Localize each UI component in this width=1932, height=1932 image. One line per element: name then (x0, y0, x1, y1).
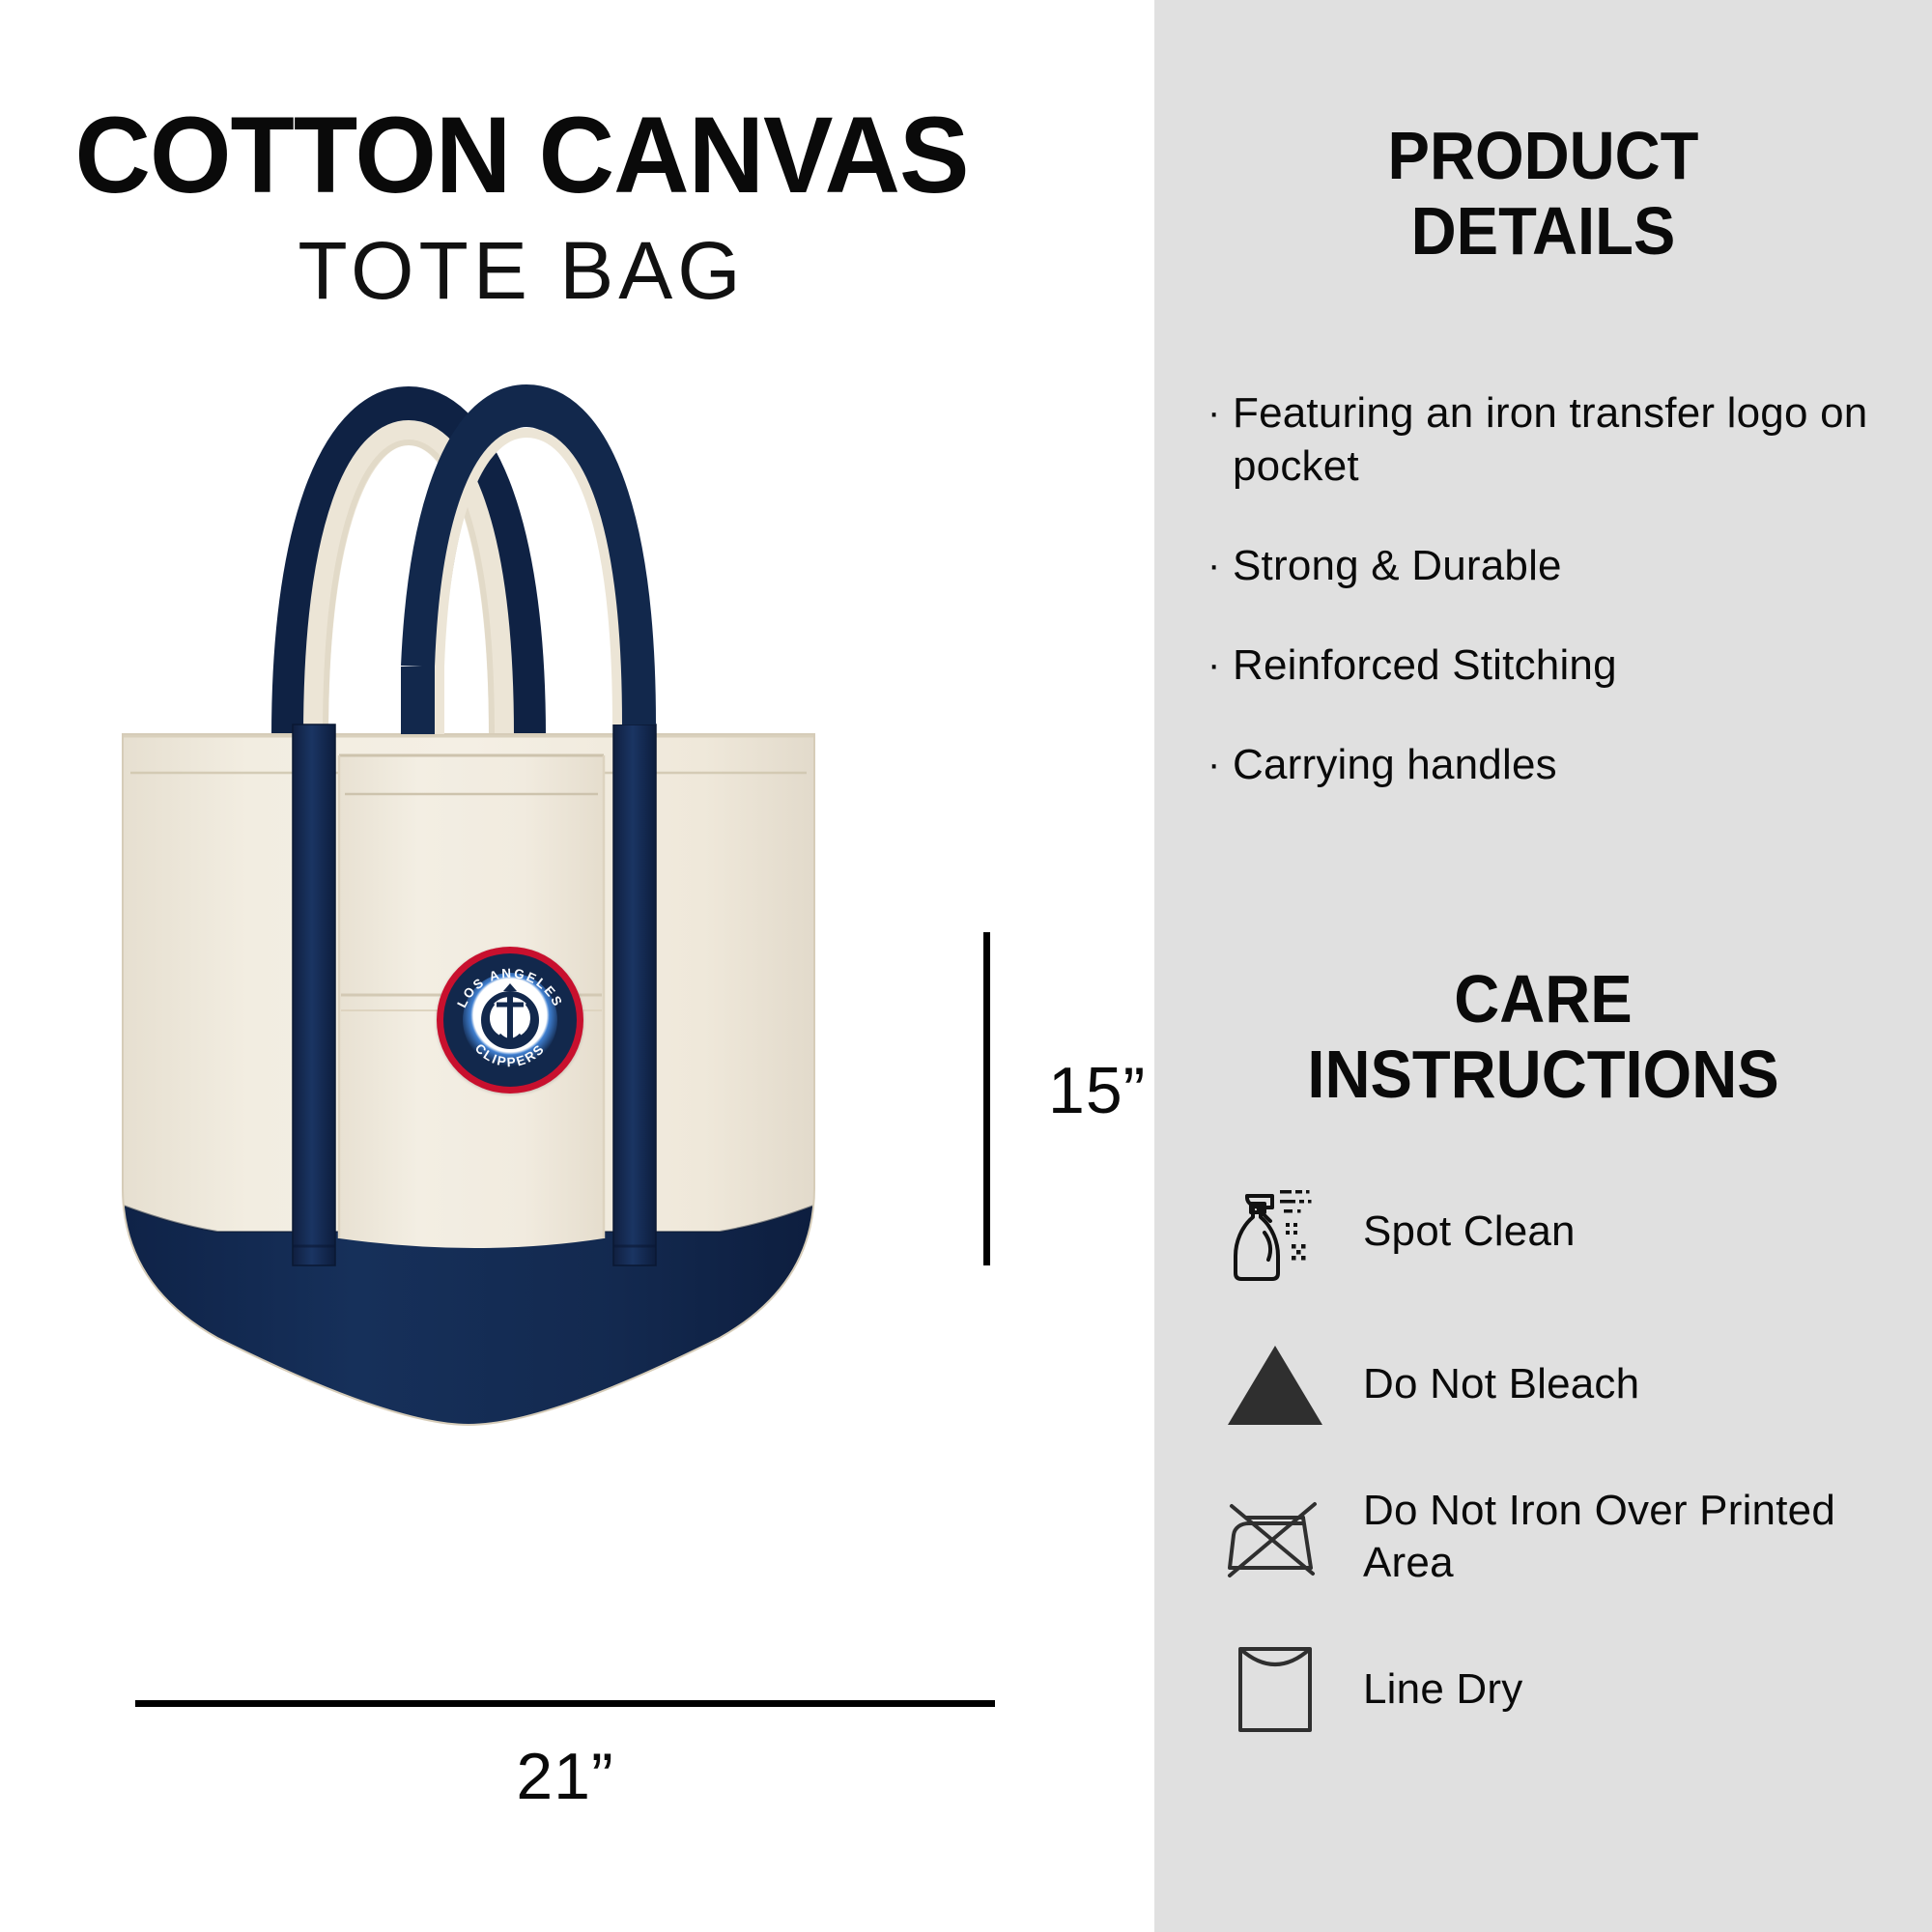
care-item-label: Do Not Iron Over Printed Area (1348, 1485, 1932, 1588)
clippers-logo-patch: LOS ANGELES CLIPPERS (437, 947, 583, 1094)
care-item-do-not-bleach: Do Not Bleach (1203, 1326, 1932, 1442)
dimension-line-vertical (976, 932, 1043, 1265)
left-panel: COTTON CANVAS TOTE BAG (0, 0, 1154, 1932)
product-details-list: · Featuring an iron transfer logo on poc… (1207, 386, 1922, 838)
dimension-width-label: 21” (135, 1739, 995, 1814)
iron-crossed-icon (1203, 1484, 1348, 1590)
title-main: COTTON CANVAS (15, 101, 1028, 210)
list-item-label: Carrying handles (1233, 738, 1922, 791)
title-sub: TOTE BAG (0, 223, 1043, 319)
product-details-heading-line2: DETAILS (1181, 193, 1905, 269)
list-item-label: Reinforced Stitching (1233, 639, 1922, 692)
list-item: · Strong & Durable (1207, 539, 1922, 592)
care-item-do-not-iron: Do Not Iron Over Printed Area (1203, 1479, 1932, 1595)
care-item-label: Spot Clean (1348, 1206, 1932, 1258)
bullet-icon: · (1207, 639, 1233, 691)
list-item: · Reinforced Stitching (1207, 639, 1922, 692)
product-infographic: COTTON CANVAS TOTE BAG (0, 0, 1932, 1932)
care-heading-line1: CARE (1181, 961, 1905, 1037)
page-title: COTTON CANVAS TOTE BAG (0, 101, 1043, 319)
product-details-heading-line1: PRODUCT (1181, 118, 1905, 193)
product-details-heading: PRODUCT DETAILS (1181, 118, 1905, 270)
solid-triangle-icon (1203, 1331, 1348, 1437)
bullet-icon: · (1207, 738, 1233, 790)
bullet-icon: · (1207, 539, 1233, 591)
dimension-line-horizontal (135, 1700, 995, 1707)
line-dry-icon (1203, 1636, 1348, 1743)
strap-right-front (613, 724, 656, 1265)
dimension-height-label: 15” (1048, 1053, 1146, 1128)
list-item-label: Strong & Durable (1233, 539, 1922, 592)
strap-left-front (293, 724, 335, 1265)
care-heading-line2: INSTRUCTIONS (1181, 1037, 1905, 1112)
tote-bag-image: LOS ANGELES CLIPPERS (101, 319, 836, 1575)
list-item: · Featuring an iron transfer logo on poc… (1207, 386, 1922, 493)
list-item: · Carrying handles (1207, 738, 1922, 791)
care-instructions-list: Spot Clean Do Not Bleach (1203, 1174, 1932, 1784)
right-panel: PRODUCT DETAILS · Featuring an iron tran… (1154, 0, 1932, 1932)
care-instructions-heading: CARE INSTRUCTIONS (1181, 961, 1905, 1113)
spray-bottle-icon (1203, 1179, 1348, 1285)
list-item-label: Featuring an iron transfer logo on pocke… (1233, 386, 1922, 493)
care-item-spot-clean: Spot Clean (1203, 1174, 1932, 1290)
care-item-line-dry: Line Dry (1203, 1632, 1932, 1747)
logo-emblem-svg: LOS ANGELES CLIPPERS (437, 947, 583, 1094)
care-item-label: Do Not Bleach (1348, 1358, 1932, 1410)
dimension-rule-vertical (983, 932, 990, 1265)
bullet-icon: · (1207, 386, 1233, 439)
care-item-label: Line Dry (1348, 1663, 1932, 1716)
